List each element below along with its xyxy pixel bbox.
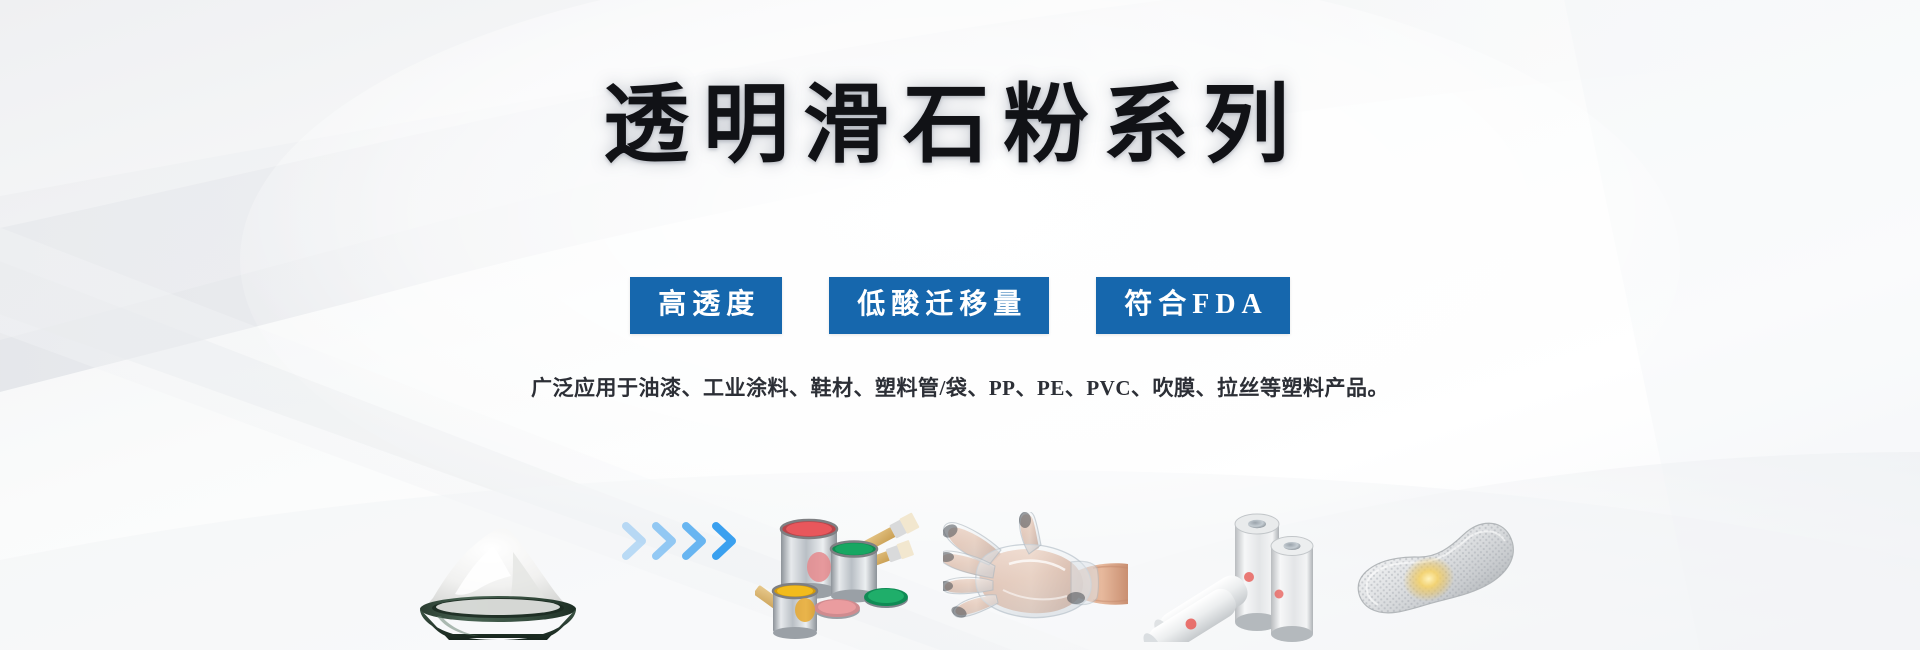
status-badge-low-acid-migration[interactable]: 低酸迁移量	[829, 277, 1049, 334]
plastic-glove-hand-image	[935, 482, 1135, 642]
process-arrow-icon	[615, 482, 745, 642]
chevron-right-icon	[651, 521, 679, 561]
application-image-strip	[0, 452, 1920, 642]
headline-container: 透明滑石粉系列	[0, 82, 1920, 168]
chevron-right-icon	[711, 521, 739, 561]
product-banner: 透明滑石粉系列 高透度 低酸迁移量 符合FDA 广泛应用于油漆、工业涂料、鞋材、…	[0, 0, 1920, 650]
application-description: 广泛应用于油漆、工业涂料、鞋材、塑料管/袋、PP、PE、PVC、吹膜、拉丝等塑料…	[0, 372, 1920, 402]
status-badge-transparency[interactable]: 高透度	[630, 277, 782, 334]
paint-cans-image	[745, 482, 935, 642]
chevron-right-icon	[621, 521, 649, 561]
shoe-sole-image	[1335, 482, 1535, 642]
talc-powder-bowl-image	[385, 482, 615, 642]
feature-badge-list: 高透度 低酸迁移量 符合FDA	[0, 277, 1920, 334]
chevron-right-icon-group	[621, 521, 739, 561]
plastic-film-rolls-image	[1135, 482, 1335, 642]
status-badge-fda-compliant[interactable]: 符合FDA	[1096, 277, 1290, 334]
page-title: 透明滑石粉系列	[603, 82, 1317, 168]
chevron-right-icon	[681, 521, 709, 561]
